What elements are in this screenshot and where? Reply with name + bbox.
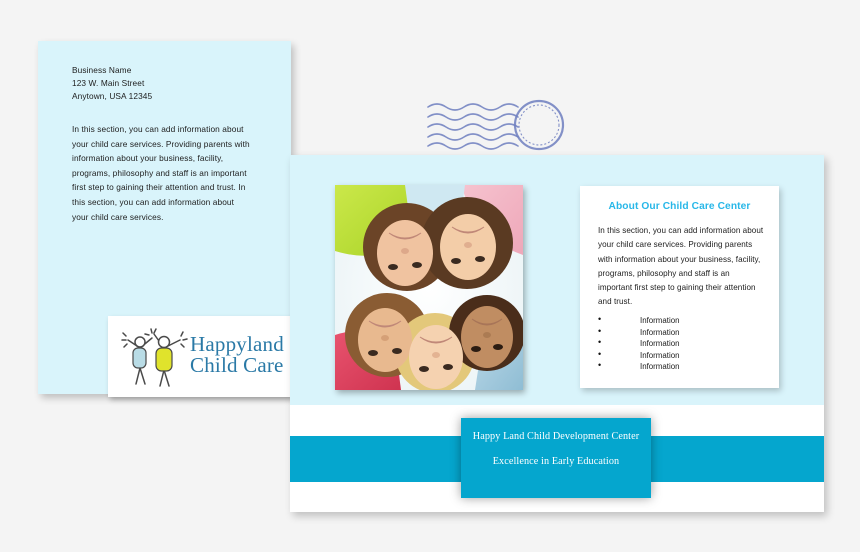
- about-heading: About Our Child Care Center: [580, 201, 779, 212]
- banner-tagline: Excellence in Early Education: [461, 456, 651, 467]
- about-bullet-list: Information Information Information Info…: [598, 315, 679, 373]
- list-item: Information: [598, 338, 679, 350]
- banner-title: Happy Land Child Development Center: [461, 431, 651, 442]
- postmark-icon: [426, 99, 571, 151]
- document-canvas: Business Name 123 W. Main Street Anytown…: [0, 0, 860, 552]
- about-paragraph: In this section, you can add information…: [598, 224, 766, 310]
- brochure-banner: Happy Land Child Development Center Exce…: [461, 418, 651, 498]
- envelope-body-text: In this section, you can add information…: [72, 122, 250, 224]
- list-item: Information: [598, 350, 679, 362]
- envelope: Business Name 123 W. Main Street Anytown…: [38, 41, 291, 394]
- list-item: Information: [598, 361, 679, 373]
- logo-wordmark: Happyland Child Care: [190, 334, 284, 375]
- logo-card: Happyland Child Care: [108, 316, 292, 397]
- envelope-return-address: Business Name 123 W. Main Street Anytown…: [72, 64, 152, 104]
- list-item: Information: [598, 327, 679, 339]
- happyland-logo-icon: [118, 322, 196, 390]
- list-item: Information: [598, 315, 679, 327]
- about-panel: About Our Child Care Center In this sect…: [580, 186, 779, 388]
- children-photo: [335, 185, 523, 390]
